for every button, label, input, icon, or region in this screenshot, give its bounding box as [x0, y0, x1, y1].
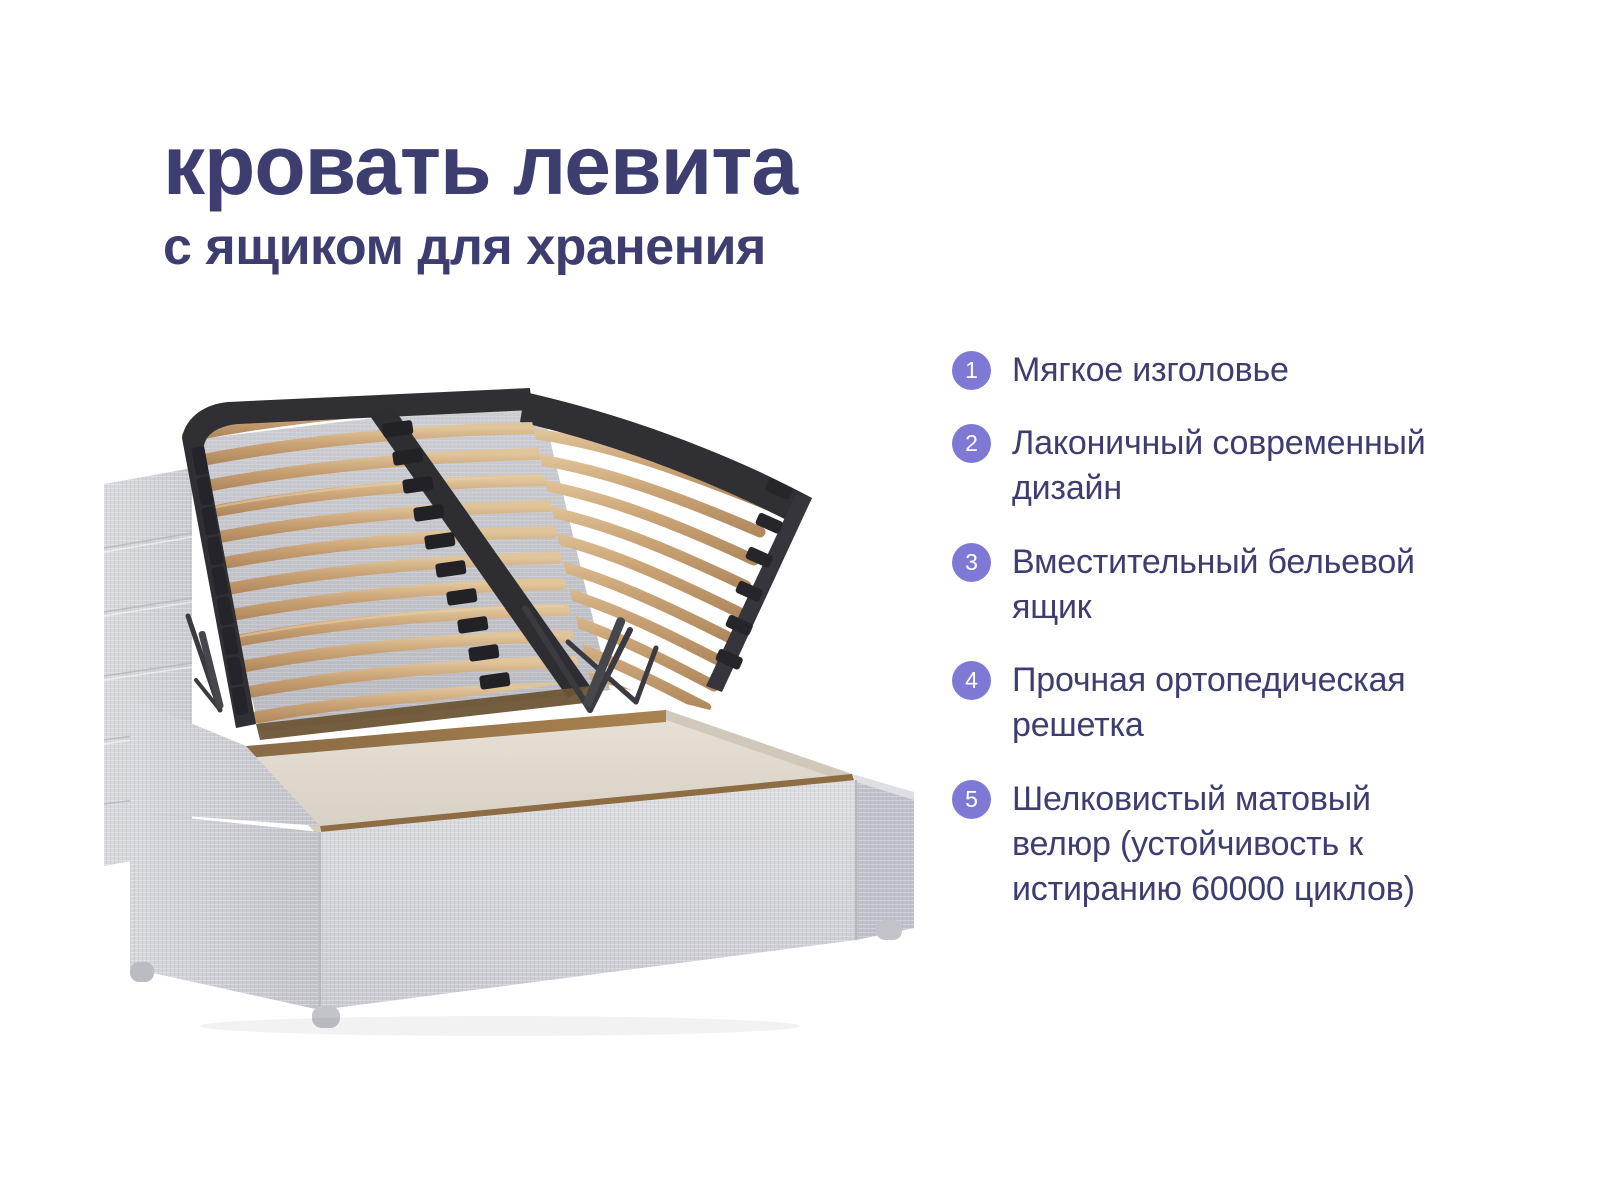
feature-item-1: 1 Мягкое изголовье [952, 348, 1472, 393]
feature-item-4: 4 Прочная ортопедическая решетка [952, 658, 1472, 748]
feature-label-2: Лаконичный современный дизайн [1012, 421, 1472, 511]
feature-label-1: Мягкое изголовье [1012, 348, 1289, 393]
bed-product-image [70, 380, 950, 1040]
heading-block: кровать левита с ящиком для хранения [163, 124, 1063, 275]
feature-number-badge-5: 5 [952, 780, 991, 819]
feature-label-3: Вместительный бельевой ящик [1012, 540, 1472, 630]
feature-number-badge-4: 4 [952, 661, 991, 700]
feature-label-4: Прочная ортопедическая решетка [1012, 658, 1472, 748]
feature-number-badge-1: 1 [952, 351, 991, 390]
feature-number-badge-3: 3 [952, 543, 991, 582]
feature-item-5: 5 Шелковистый матовый велюр (устойчивост… [952, 777, 1472, 913]
product-infographic: кровать левита с ящиком для хранения [0, 0, 1600, 1200]
feature-item-2: 2 Лаконичный современный дизайн [952, 421, 1472, 511]
page-subtitle: с ящиком для хранения [163, 220, 1063, 275]
feature-number-badge-2: 2 [952, 424, 991, 463]
feature-label-5: Шелковистый матовый велюр (устойчивость … [1012, 777, 1472, 913]
page-title: кровать левита [163, 124, 1063, 206]
features-list: 1 Мягкое изголовье 2 Лаконичный современ… [952, 348, 1472, 940]
feature-item-3: 3 Вместительный бельевой ящик [952, 540, 1472, 630]
